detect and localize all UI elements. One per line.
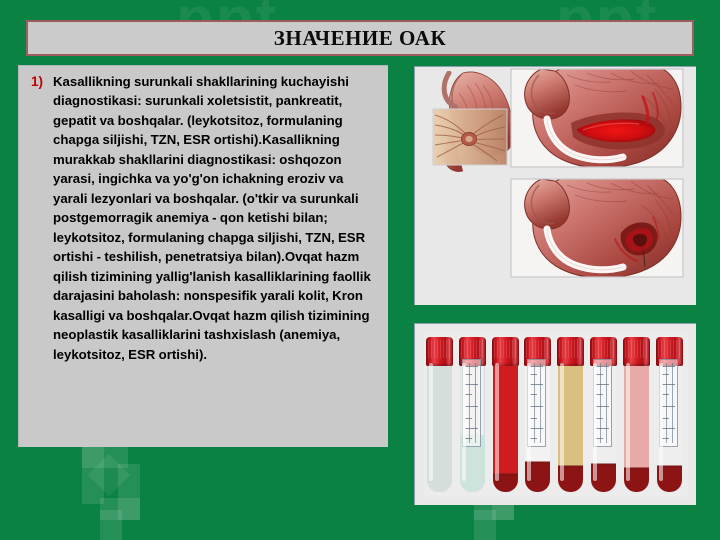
- list-item: 1) Kasallikning surunkali shakllarining …: [27, 72, 380, 364]
- tube-cap: [557, 337, 584, 366]
- blood-collection-tubes: [414, 323, 696, 505]
- slide-canvas: ppt ppt ppt ppt ЗНАЧЕНИЕ ОАК 1) Kasallik…: [0, 0, 720, 540]
- tube-highlight: [527, 363, 531, 481]
- blood-tube: [524, 337, 551, 493]
- tube-highlight: [560, 363, 564, 481]
- tube-cap: [492, 337, 519, 366]
- blood-tube: [459, 337, 486, 493]
- tube-highlight: [659, 363, 663, 481]
- stomach-inset-zoom: [433, 109, 507, 165]
- stomach-bleeding-ulcer-figure: [511, 67, 683, 168]
- stomach-ulcer-crater-figure: [511, 177, 683, 278]
- blood-tube: [426, 337, 453, 493]
- gastric-ulcer-illustration: [414, 66, 696, 305]
- watermark-logo-icon: [78, 444, 164, 540]
- tube-rack: [424, 333, 688, 497]
- tube-highlight: [593, 363, 597, 481]
- tube-cap: [426, 337, 453, 366]
- list-item-text: Kasallikning surunkali shakllarining kuc…: [53, 72, 380, 364]
- blood-tube: [590, 337, 617, 493]
- list-item-marker: 1): [27, 72, 53, 92]
- tube-highlight: [626, 363, 630, 481]
- blood-tube: [623, 337, 650, 493]
- tube-highlight: [462, 363, 466, 481]
- page-title: ЗНАЧЕНИЕ ОАК: [274, 28, 446, 49]
- slide-title-bar: ЗНАЧЕНИЕ ОАК: [26, 20, 694, 56]
- content-text-panel: 1) Kasallikning surunkali shakllarining …: [18, 65, 388, 447]
- tube-highlight: [495, 363, 499, 481]
- tube-highlight: [429, 363, 433, 481]
- stomach-figure-svg: [415, 67, 696, 305]
- blood-tube: [557, 337, 584, 493]
- blood-tube: [656, 337, 683, 493]
- blood-tube: [492, 337, 519, 493]
- tube-cap: [623, 337, 650, 366]
